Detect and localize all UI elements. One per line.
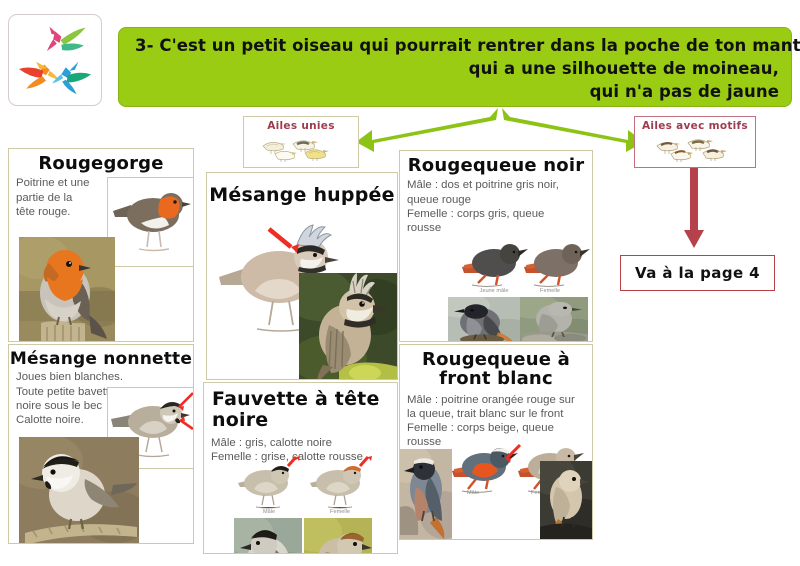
species-card-mesange-nonnette[interactable]: Mésange nonnette Joues bien blanches. To… — [8, 344, 194, 544]
sex-label-male: Mâle — [256, 509, 282, 515]
black-redstart-female-photo — [520, 297, 588, 342]
common-redstart-female-photo — [540, 461, 593, 540]
species-title-rougequeue-noir: Rougequeue noir — [400, 151, 592, 175]
goto-page-4-label: Va à la page 4 — [635, 264, 760, 282]
sex-label-male: Mâle — [460, 490, 486, 496]
legend-patterned-wings-title: Ailes avec motifs — [635, 117, 755, 132]
species-card-rougequeue-noir[interactable]: Rougequeue noir Mâle : dos et poitrine g… — [399, 150, 593, 342]
question-line-1: 3- C'est un petit oiseau qui pourrait re… — [135, 34, 779, 57]
species-card-fauvette-tete-noire[interactable]: Fauvette à tête noire Mâle : gris, calot… — [203, 382, 398, 554]
blackcap-male-photo — [234, 518, 302, 554]
marsh-tit-on-branch-photo — [19, 437, 139, 543]
species-description-rougequeue-noir: Mâle : dos et poitrine gris noir, queue … — [400, 175, 592, 235]
logo — [8, 14, 102, 106]
question-banner: 3- C'est un petit oiseau qui pourrait re… — [118, 27, 792, 107]
question-line-2: qui a une silhouette de moineau, — [135, 57, 779, 80]
species-title-rougequeue-front-blanc: Rougequeue à front blanc — [400, 345, 592, 389]
species-card-mesange-huppee[interactable]: Mésange huppée — [206, 172, 398, 380]
robin-perched-photo — [19, 237, 115, 342]
black-redstart-pair-drawing — [460, 237, 592, 293]
species-title-mesange-nonnette: Mésange nonnette — [9, 345, 193, 368]
species-title-fauvette-tete-noire: Fauvette à tête noire — [204, 383, 397, 430]
blackcap-pair-drawing — [232, 455, 372, 513]
species-card-rougequeue-front-blanc[interactable]: Rougequeue à front blanc Mâle : poitrine… — [399, 344, 593, 540]
goto-page-4-box[interactable]: Va à la page 4 — [620, 255, 775, 291]
sex-label-young-male: Jeune mâle — [472, 288, 516, 294]
four-plain-wing-birds-icon — [244, 132, 358, 162]
three-hummingbirds-logo-icon — [9, 15, 101, 105]
page-link-arrow — [682, 168, 706, 252]
legend-plain-wings[interactable]: Ailes unies — [243, 116, 359, 168]
sex-label-female: Femelle — [533, 288, 567, 294]
species-title-rougegorge: Rougegorge — [9, 149, 193, 173]
four-patterned-wing-birds-icon — [635, 132, 755, 162]
black-redstart-male-photo — [448, 297, 520, 342]
legend-patterned-wings[interactable]: Ailes avec motifs — [634, 116, 756, 168]
species-title-mesange-huppee: Mésange huppée — [207, 173, 397, 206]
species-card-rougegorge[interactable]: Rougegorge Poitrine et une partie de la … — [8, 148, 194, 342]
robin-profile-drawing — [109, 181, 193, 263]
common-redstart-male-photo — [399, 449, 452, 539]
crested-tit-photo — [299, 273, 398, 380]
sex-label-female: Femelle — [324, 509, 356, 515]
legend-plain-wings-title: Ailes unies — [244, 117, 358, 132]
worksheet-page: 3- C'est un petit oiseau qui pourrait re… — [0, 0, 800, 566]
blackcap-female-photo — [304, 518, 372, 554]
down-arrow-icon — [682, 168, 706, 252]
question-line-3: qui n'a pas de jaune — [135, 80, 779, 103]
